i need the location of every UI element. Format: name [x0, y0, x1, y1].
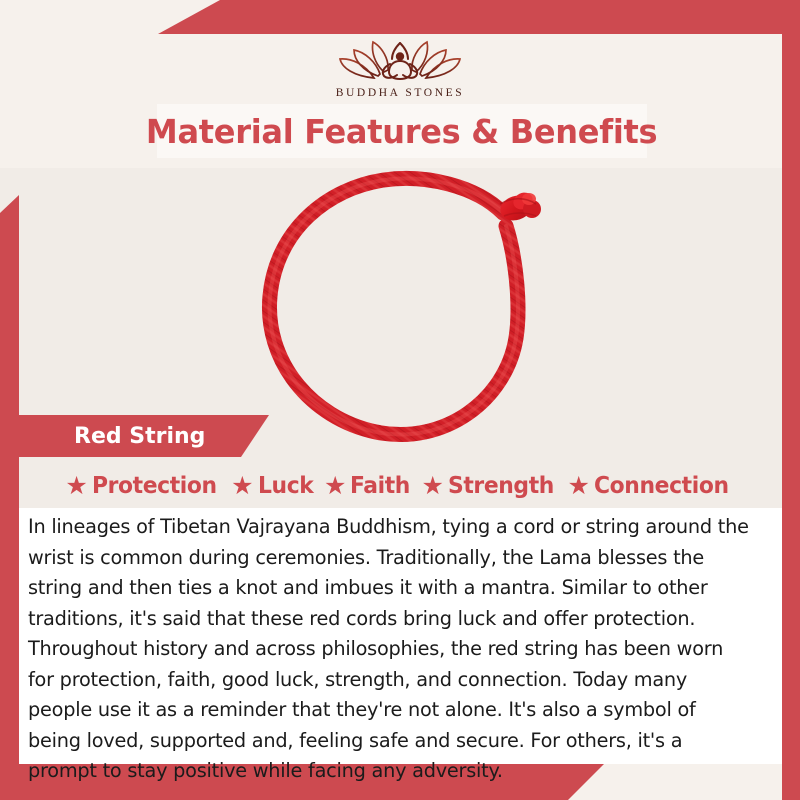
brand-name: BUDDHA STONES	[336, 87, 464, 99]
benefits-list: ★ Protection ★ Luck ★ Faith ★ Strength ★…	[19, 466, 782, 506]
benefit-label: Faith	[350, 473, 410, 499]
benefit-label: Strength	[448, 473, 554, 499]
material-name: Red String	[74, 424, 205, 449]
benefit-item-connection: ★ Connection	[567, 473, 735, 499]
benefit-item-strength: ★ Strength	[422, 473, 560, 499]
benefit-item-faith: ★ Faith	[324, 473, 414, 499]
material-label-ribbon: Red String	[19, 415, 269, 457]
description-text: In lineages of Tibetan Vajrayana Buddhis…	[28, 512, 753, 787]
benefit-item-protection: ★ Protection	[65, 473, 223, 499]
benefit-label: Connection	[594, 473, 729, 499]
brand-logo: BUDDHA STONES	[0, 34, 800, 106]
title-banner: Material Features & Benefits	[157, 104, 647, 158]
benefit-item-luck: ★ Luck	[231, 473, 316, 499]
star-icon: ★	[65, 474, 87, 499]
star-icon: ★	[567, 474, 589, 499]
product-image	[248, 168, 572, 450]
infographic-page: BUDDHA STONES Material Features & Benefi…	[0, 0, 800, 800]
top-red-band	[0, 0, 800, 34]
benefit-label: Protection	[92, 473, 217, 499]
page-title: Material Features & Benefits	[146, 112, 657, 151]
lotus-meditation-icon	[334, 34, 466, 86]
star-icon: ★	[324, 474, 346, 499]
star-icon: ★	[422, 474, 444, 499]
description-block: In lineages of Tibetan Vajrayana Buddhis…	[19, 508, 782, 764]
left-red-stripe	[0, 195, 19, 800]
star-icon: ★	[231, 474, 253, 499]
right-red-stripe	[782, 0, 800, 800]
benefit-label: Luck	[258, 473, 313, 499]
